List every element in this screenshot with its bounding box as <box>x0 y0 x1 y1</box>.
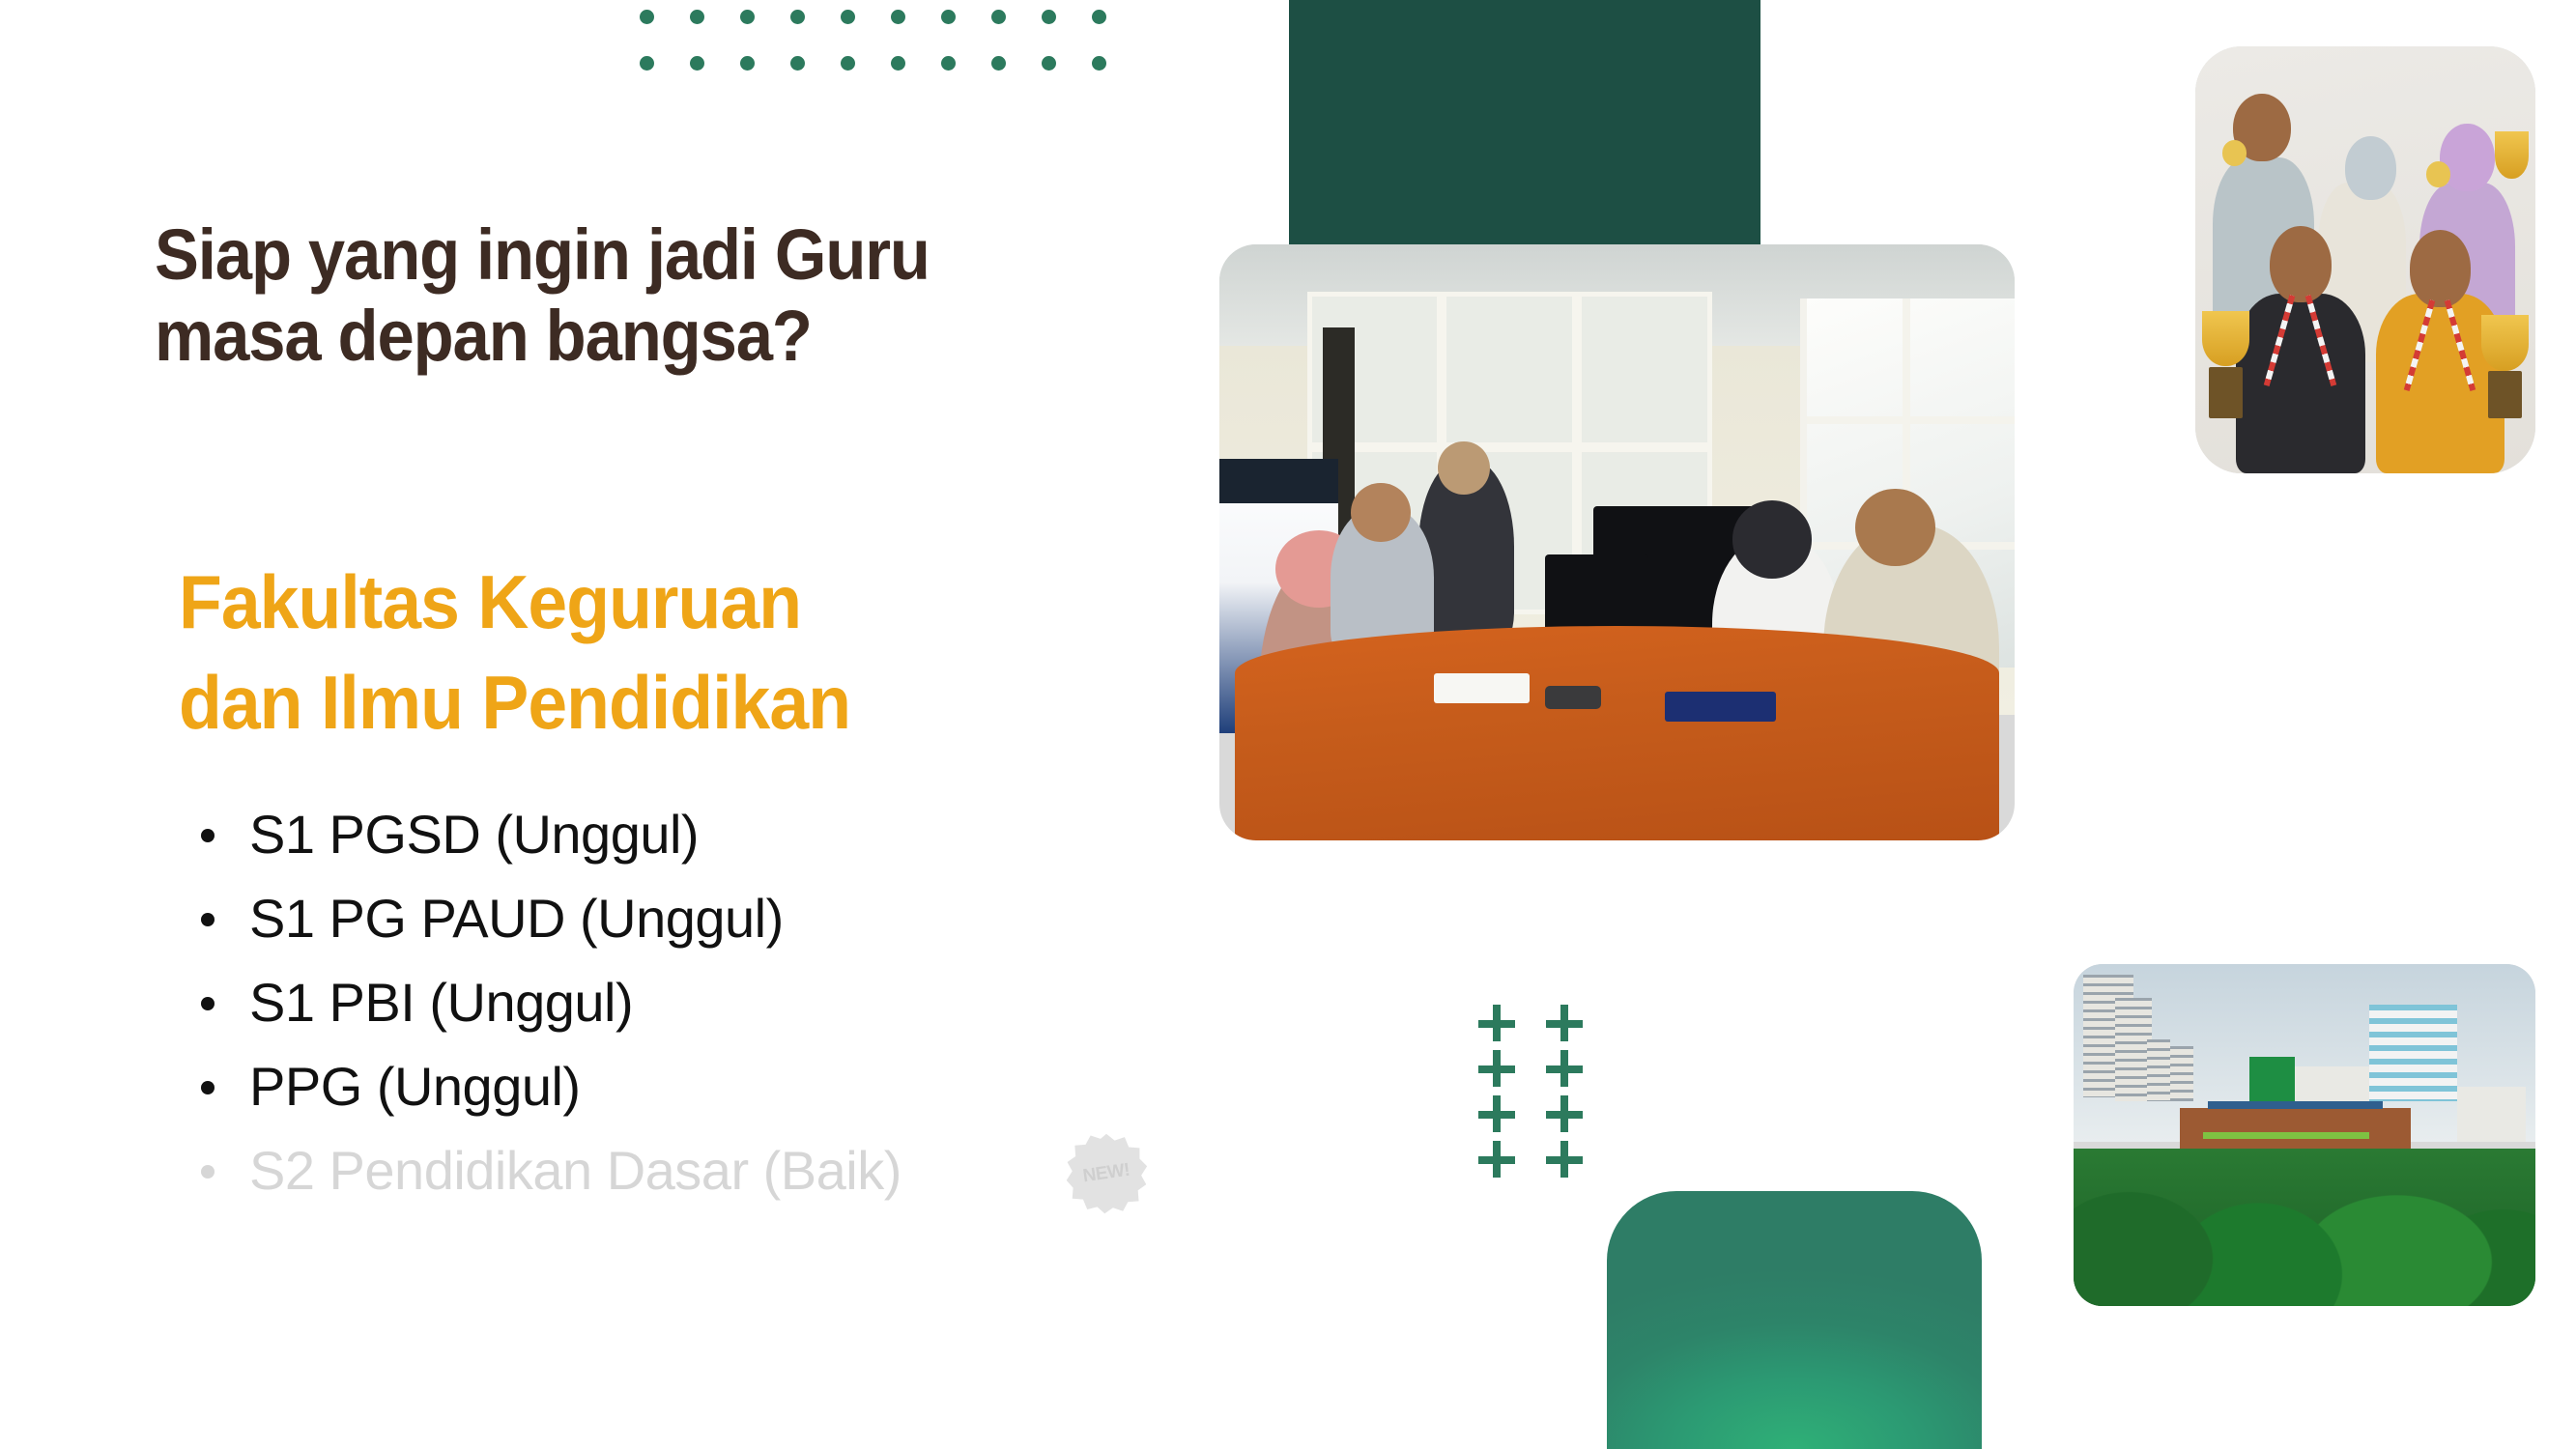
decor-plus-icon <box>1546 1050 1585 1089</box>
new-badge: NEW! <box>1063 1132 1150 1215</box>
campus-trees <box>2074 1149 2535 1306</box>
person-right-hijab <box>1732 500 1812 578</box>
decor-dot <box>740 56 755 71</box>
decor-plus-icon <box>1546 1141 1585 1179</box>
campus-green-stripe <box>2203 1132 2369 1139</box>
list-item: S1 PG PAUD (Unggul) <box>174 876 1333 960</box>
decor-dot <box>991 56 1006 71</box>
green-block-top <box>1289 0 1760 249</box>
person-presenter-head <box>1438 441 1489 496</box>
decor-dot <box>690 10 704 24</box>
trophy-cup <box>2202 311 2249 366</box>
decor-plus-icon <box>1478 1050 1517 1089</box>
decorative-dot-grid <box>640 10 1142 102</box>
campus-roof <box>2208 1101 2384 1109</box>
photo-campus-canvas <box>2074 964 2535 1306</box>
headline-line-1: Siap yang ingin jadi Guru <box>155 214 930 295</box>
program-list: S1 PGSD (Unggul) S1 PG PAUD (Unggul) S1 … <box>174 792 1333 1212</box>
skyscraper <box>2170 1046 2193 1101</box>
decor-dot <box>1042 56 1056 71</box>
decor-dot <box>690 56 704 71</box>
faculty-title-line-2: dan Ilmu Pendidikan <box>179 660 850 745</box>
slide-canvas: Siap yang ingin jadi Guru masa depan ban… <box>0 0 2576 1449</box>
decor-dot <box>640 10 654 24</box>
decor-plus-icon <box>1478 1095 1517 1134</box>
list-item: S1 PBI (Unggul) <box>174 960 1333 1044</box>
student-front-left-body <box>2236 294 2365 473</box>
list-item: S1 PGSD (Unggul) <box>174 792 1333 876</box>
medal <box>2426 161 2450 187</box>
book-stack <box>1665 692 1776 722</box>
headline-line-2: masa depan bangsa? <box>155 296 812 376</box>
decor-dot <box>941 56 956 71</box>
green-block-bottom <box>1607 1191 1982 1449</box>
tablet-device <box>1545 686 1601 710</box>
photo-classroom-discussion <box>1219 244 2015 840</box>
trophy-cup <box>2495 131 2529 179</box>
decor-dot <box>1092 56 1106 71</box>
decor-plus-icon <box>1478 1005 1517 1043</box>
decor-plus-icon <box>1546 1005 1585 1043</box>
decorative-plus-grid <box>1478 1005 1614 1186</box>
list-item: S2 Pendidikan Dasar (Baik) <box>174 1128 1333 1212</box>
decor-dot <box>790 56 805 71</box>
decor-dot <box>891 56 905 71</box>
medal <box>2222 140 2247 166</box>
student-back-mid-hijab <box>2345 136 2396 200</box>
glass-panel <box>1442 292 1577 446</box>
trophy-base <box>2209 367 2243 418</box>
photo-trophies-canvas <box>2195 46 2535 473</box>
faculty-title-line-1: Fakultas Keguruan <box>179 559 801 644</box>
white-building <box>2457 1087 2527 1142</box>
decor-dot <box>841 10 855 24</box>
white-building <box>2295 1066 2368 1104</box>
skyscraper <box>2147 1039 2170 1101</box>
decor-plus-icon <box>1546 1095 1585 1134</box>
photo-classroom-canvas <box>1219 244 2015 840</box>
green-rooftop <box>2249 1057 2296 1105</box>
paper-stack <box>1434 673 1530 703</box>
student-front-right-head <box>2410 230 2471 307</box>
photo-students-with-trophies <box>2195 46 2535 473</box>
decor-dot <box>841 56 855 71</box>
decor-dot <box>1092 10 1106 24</box>
trophy-cup <box>2481 315 2529 370</box>
faculty-title: Fakultas Keguruan dan Ilmu Pendidikan <box>179 553 1250 753</box>
decor-plus-icon <box>1478 1141 1517 1179</box>
decor-dot <box>991 10 1006 24</box>
headline: Siap yang ingin jadi Guru masa depan ban… <box>155 214 1161 376</box>
photo-campus-aerial-view <box>2074 964 2535 1306</box>
skyscraper-blue <box>2369 1005 2457 1100</box>
decor-dot <box>640 56 654 71</box>
decor-dot <box>790 10 805 24</box>
student-front-left-head <box>2270 226 2331 303</box>
banner-header <box>1219 459 1338 502</box>
decor-dot <box>1042 10 1056 24</box>
meeting-table <box>1235 626 1998 840</box>
list-item: PPG (Unggul) <box>174 1044 1333 1128</box>
trophy-base <box>2488 371 2522 418</box>
window-mullion <box>1807 416 2015 424</box>
decor-dot <box>941 10 956 24</box>
person-left2-head <box>1351 483 1411 543</box>
decor-dot <box>740 10 755 24</box>
new-badge-label: NEW! <box>1057 1126 1155 1221</box>
decor-dot <box>891 10 905 24</box>
person-right2-head <box>1855 489 1934 566</box>
glass-panel <box>1577 292 1712 446</box>
